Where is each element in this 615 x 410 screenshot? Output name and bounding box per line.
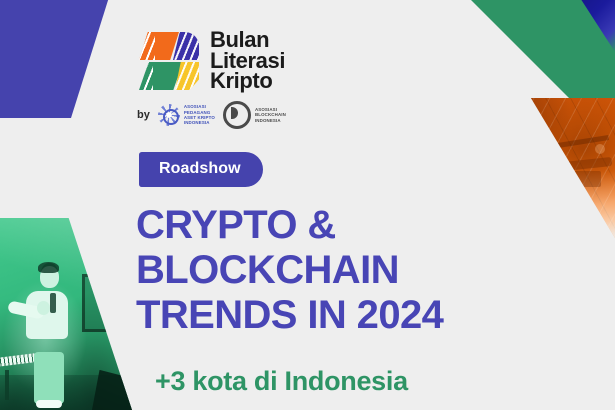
by-label: by	[137, 109, 150, 121]
brand-name: Bulan Literasi Kripto	[210, 30, 285, 92]
brand-name-line-3: Kripto	[210, 71, 285, 92]
brand-logo: Bulan Literasi Kripto	[137, 30, 285, 92]
aspakrindo-logo-icon	[158, 104, 180, 126]
poster-content: Bulan Literasi Kripto by ASOSIASI PEDAGA…	[0, 0, 615, 410]
logo-segment-orange	[139, 32, 179, 60]
headline-line-3: TRENDS IN 2024	[136, 293, 443, 338]
abi-line-3: INDONESIA	[255, 118, 281, 123]
headline-line-2: BLOCKCHAIN	[136, 248, 443, 293]
page-title: CRYPTO & BLOCKCHAIN TRENDS IN 2024	[136, 203, 443, 338]
aspakrindo-line-4: INDONESIA	[184, 120, 210, 125]
abi-label: ASOSIASI BLOCKCHAIN INDONESIA	[255, 107, 286, 123]
abi-line-1: ASOSIASI	[255, 107, 277, 112]
bulan-literasi-kripto-logo-icon	[137, 30, 199, 92]
headline-line-1: CRYPTO &	[136, 203, 443, 248]
aspakrindo-label: ASOSIASI PEDAGANG ASET KRIPTO INDONESIA	[184, 104, 215, 126]
subtitle: +3 kota di Indonesia	[155, 366, 408, 397]
asosiasi-blockchain-indonesia-logo-icon	[223, 101, 251, 129]
aspakrindo-line-2: PEDAGANG	[184, 110, 211, 115]
poster-canvas: Bulan Literasi Kripto by ASOSIASI PEDAGA…	[0, 0, 615, 410]
aspakrindo-line-1: ASOSIASI	[184, 104, 206, 109]
aspakrindo-line-3: ASET KRIPTO	[184, 115, 215, 120]
partner-aspakrindo: ASOSIASI PEDAGANG ASET KRIPTO INDONESIA	[158, 104, 215, 126]
partner-abi: ASOSIASI BLOCKCHAIN INDONESIA	[223, 101, 286, 129]
partner-credits: by ASOSIASI PEDAGANG ASET KRIPTO INDONES…	[137, 101, 286, 129]
abi-line-2: BLOCKCHAIN	[255, 112, 286, 117]
status-badge: Roadshow	[139, 152, 263, 187]
